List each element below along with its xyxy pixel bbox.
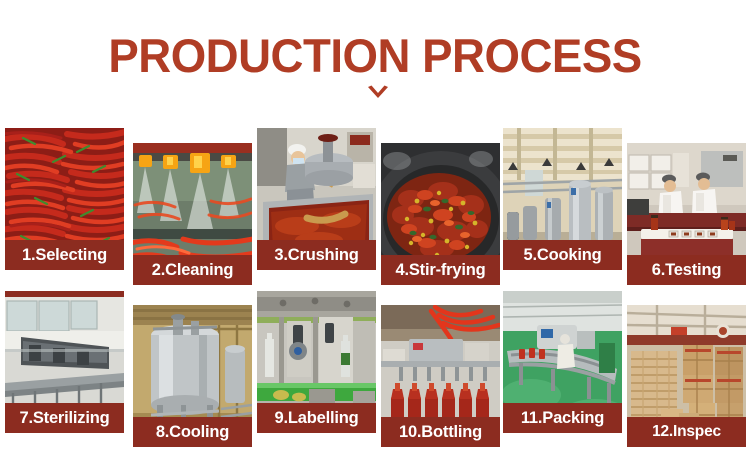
process-step-grid: 1.Selecting [0, 118, 750, 474]
step-caption: 6.Testing [627, 255, 746, 285]
header: PRODUCTION PROCESS [0, 0, 750, 118]
step-caption: 1.Selecting [5, 240, 124, 270]
process-step-2[interactable]: 2.Cleaning [133, 143, 252, 285]
chevron-down-icon [366, 84, 390, 102]
process-step-9[interactable]: 9.Labelling [257, 291, 376, 433]
step-caption: 9.Labelling [257, 403, 376, 433]
step-caption: 5.Cooking [503, 240, 622, 270]
step-caption: 7.Sterilizing [5, 403, 124, 433]
step-caption: 4.Stir-frying [381, 255, 500, 285]
step-caption: 3.Crushing [257, 240, 376, 270]
process-step-4[interactable]: 4.Stir-frying [381, 143, 500, 285]
process-step-12[interactable]: 12.Inspec [627, 305, 746, 447]
page-title: PRODUCTION PROCESS [11, 28, 739, 84]
process-step-7[interactable]: 7.Sterilizing [5, 291, 124, 433]
production-process-infographic: PRODUCTION PROCESS [0, 0, 750, 474]
process-step-3[interactable]: 3.Crushing [257, 128, 376, 270]
step-caption: 2.Cleaning [133, 255, 252, 285]
process-step-6[interactable]: 6.Testing [627, 143, 746, 285]
process-step-5[interactable]: 5.Cooking [503, 128, 622, 270]
step-caption: 8.Cooling [133, 417, 252, 447]
process-step-11[interactable]: 11.Packing [503, 291, 622, 433]
process-step-10[interactable]: 10.Bottling [381, 305, 500, 447]
process-step-1[interactable]: 1.Selecting [5, 128, 124, 270]
step-caption: 11.Packing [503, 403, 622, 433]
step-caption: 10.Bottling [381, 417, 500, 447]
process-step-8[interactable]: 8.Cooling [133, 305, 252, 447]
step-caption: 12.Inspec [627, 417, 746, 447]
